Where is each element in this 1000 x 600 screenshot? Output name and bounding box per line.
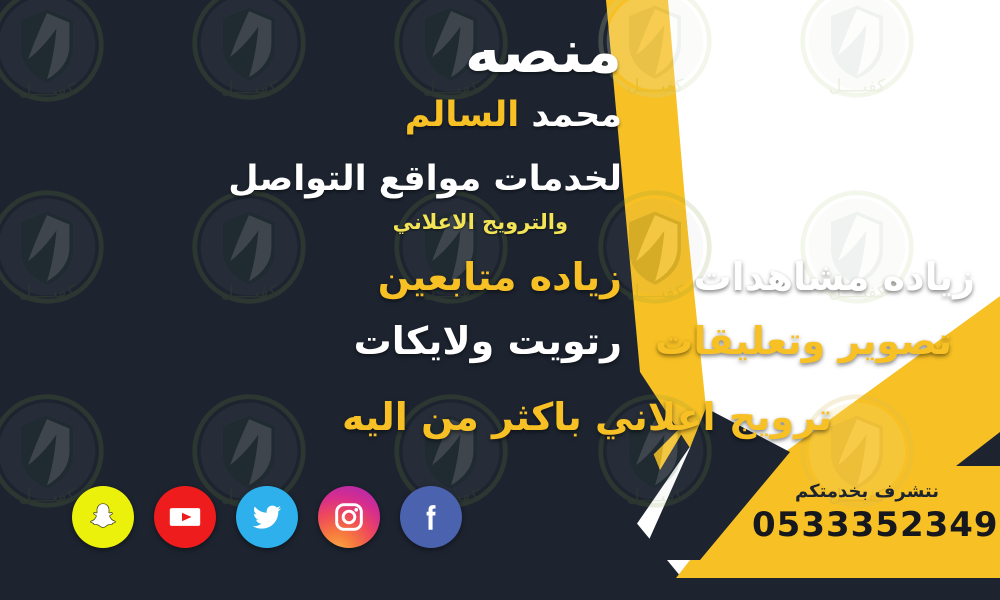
service-item: زياده مشاهدات bbox=[693, 258, 975, 296]
contact-block: نتشرف بخدمتكم 0533352349 bbox=[752, 483, 982, 542]
facebook-icon[interactable] bbox=[400, 486, 462, 548]
poster-content: منصه محمد السالم لخدمات مواقع التواصل وا… bbox=[0, 0, 1000, 600]
service-item: تصوير وتعليقات bbox=[655, 322, 952, 360]
promo-poster: كفيــــل كفيــــل كفيــــل كفيــــل كفيـ… bbox=[0, 0, 1000, 600]
promo-line: ترويج اعلاني باكثر من اليه bbox=[342, 398, 832, 436]
service-greeting: نتشرف بخدمتكم bbox=[752, 483, 982, 501]
service-item: رتويت ولايكات bbox=[354, 322, 622, 360]
phone-number[interactable]: 0533352349 bbox=[752, 508, 982, 542]
instagram-icon[interactable] bbox=[318, 486, 380, 548]
social-links bbox=[72, 486, 462, 548]
youtube-icon[interactable] bbox=[154, 486, 216, 548]
twitter-icon[interactable] bbox=[236, 486, 298, 548]
service-item: زياده متابعين bbox=[378, 258, 622, 296]
owner-name: محمد السالم bbox=[405, 98, 622, 133]
owner-first-name: محمد bbox=[531, 95, 622, 135]
owner-last-name: السالم bbox=[405, 95, 520, 135]
tagline-primary: لخدمات مواقع التواصل bbox=[228, 162, 622, 197]
snapchat-icon[interactable] bbox=[72, 486, 134, 548]
page-title: منصه bbox=[465, 22, 622, 82]
tagline-secondary: والترويج الاعلاني bbox=[393, 212, 568, 233]
